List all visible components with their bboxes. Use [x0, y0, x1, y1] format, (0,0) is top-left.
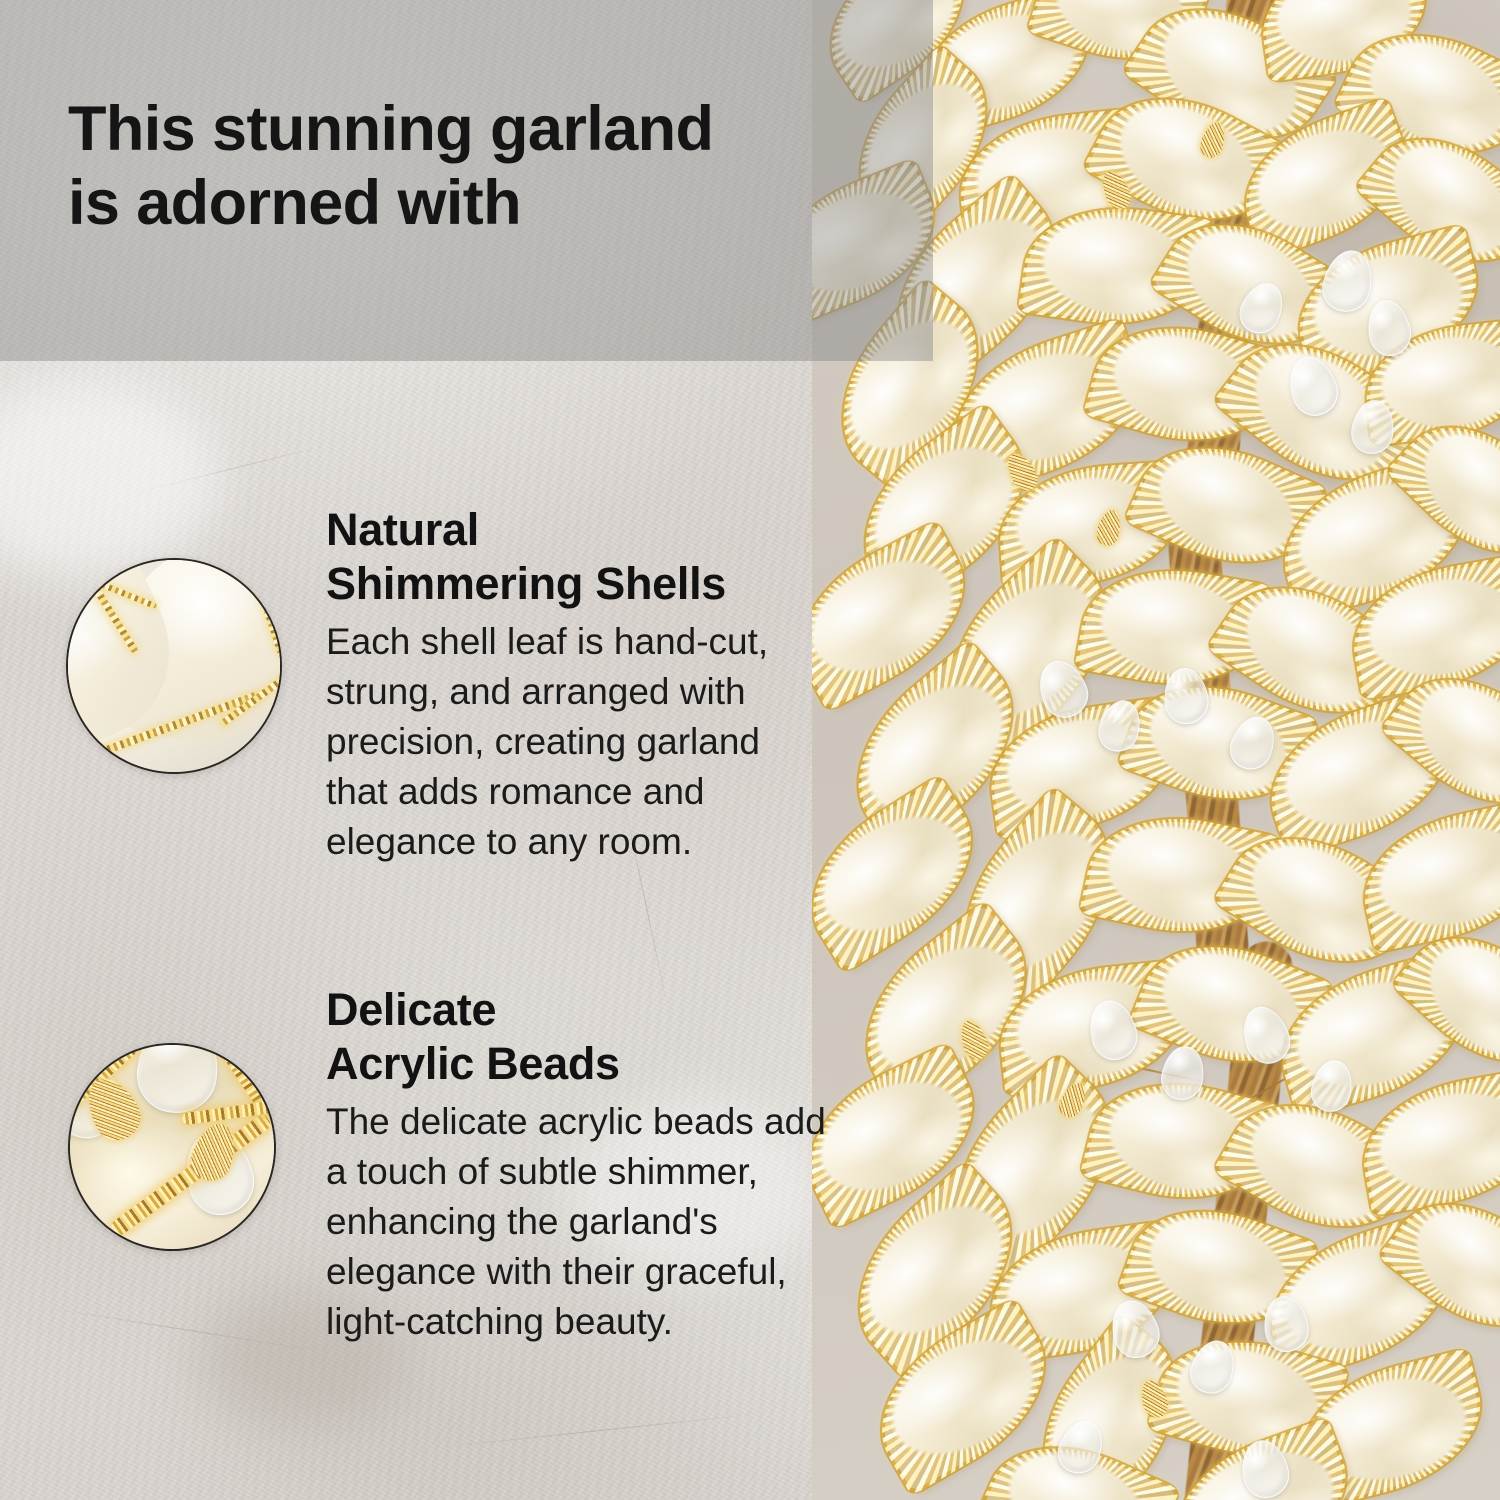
- feature-body: Each shell leaf is hand-cut, strung, and…: [326, 617, 856, 867]
- infographic-canvas: This stunning garland is adorned with Na…: [0, 0, 1500, 1500]
- macro-acrylic-bead: [133, 1043, 223, 1117]
- feature-title: Delicate Acrylic Beads: [326, 983, 846, 1091]
- feature-title: Natural Shimmering Shells: [326, 503, 846, 611]
- shell-closeup-image: [66, 558, 282, 774]
- acrylic-bead-closeup-image: [68, 1043, 276, 1251]
- feature-body: The delicate acrylic beads add a touch o…: [326, 1097, 856, 1347]
- shell-closeup-circle: [66, 558, 282, 774]
- acrylic-bead-closeup-circle: [68, 1043, 276, 1251]
- page-title: This stunning garland is adorned with: [68, 92, 888, 240]
